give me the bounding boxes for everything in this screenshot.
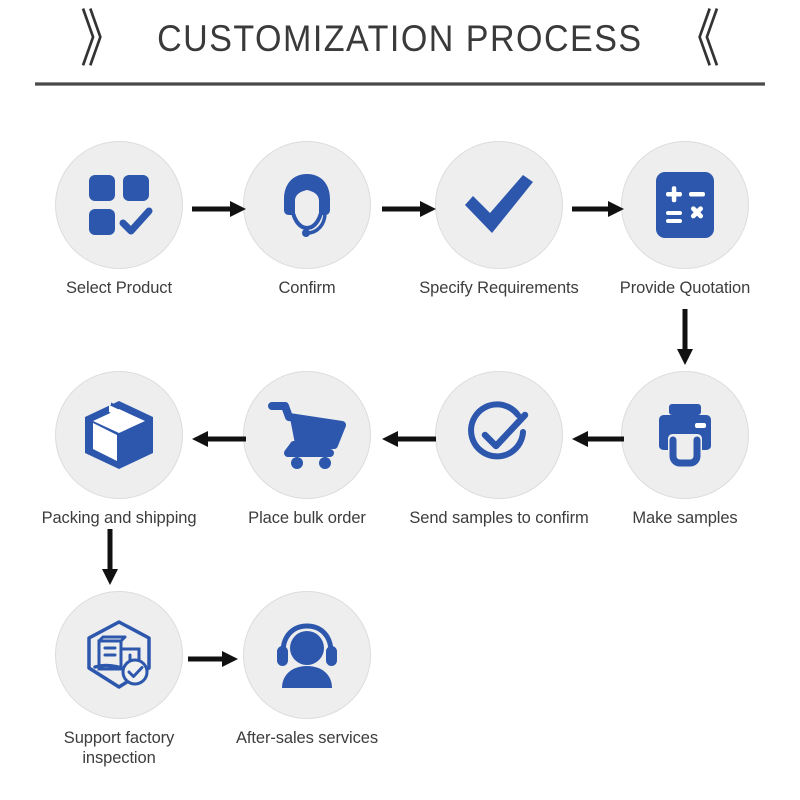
arrow-provide-quotation-to-make-samples [676,309,694,365]
checkmark-icon [461,172,537,238]
step-label: Confirm [217,278,397,298]
support-agent-headset-icon [270,168,344,242]
arrow-down-icon [676,309,694,365]
check-circle-outline-icon [460,396,538,474]
arrow-right-icon [188,650,238,668]
step-label: Specify Requirements [409,278,589,298]
arrow-right-icon [572,200,624,218]
step-icon-circle [55,141,183,269]
arrow-down-icon [101,529,119,585]
process-flow-diagram: Select Product Confirm Specify Requireme… [0,86,800,786]
process-step-make-samples[interactable]: Make samples [595,371,775,528]
process-step-support-factory-inspection[interactable]: Support factory inspection [29,591,209,768]
arrow-right-icon [192,200,246,218]
step-icon-circle [55,591,183,719]
page-title: CUSTOMIZATION PROCESS [157,18,642,60]
step-icon-circle [243,141,371,269]
step-icon-circle [243,371,371,499]
arrow-left-icon [382,430,436,448]
step-label: Send samples to confirm [409,508,589,528]
calculator-icon [654,170,716,240]
package-box-icon [81,397,157,473]
arrow-left-icon [572,430,624,448]
step-icon-circle [55,371,183,499]
process-step-specify-requirements[interactable]: Specify Requirements [409,141,589,298]
step-label: After-sales services [217,728,397,748]
step-icon-circle [243,591,371,719]
arrow-select-product-to-confirm [192,200,246,218]
step-label: Packing and shipping [29,508,209,528]
process-step-provide-quotation[interactable]: Provide Quotation [595,141,775,298]
double-chevron-left-icon: 《 [674,8,720,70]
step-icon-circle [621,371,749,499]
arrow-confirm-to-specify-requirements [382,200,436,218]
headphones-person-icon [269,620,345,690]
step-label: Place bulk order [217,508,397,528]
grid-select-check-icon [84,170,154,240]
process-step-send-samples-to-confirm[interactable]: Send samples to confirm [409,371,589,528]
shopping-cart-icon [268,401,346,469]
printer-icon [649,402,721,468]
arrow-left-icon [192,430,246,448]
arrow-right-icon [382,200,436,218]
arrow-specify-requirements-to-provide-quotation [572,200,624,218]
step-icon-circle [435,371,563,499]
arrow-place-bulk-order-to-packing-and-shipping [192,430,246,448]
factory-inspection-shield-icon [81,619,157,691]
step-label: Provide Quotation [595,278,775,298]
page-header: 》 CUSTOMIZATION PROCESS 《 [0,0,800,86]
process-step-after-sales-services[interactable]: After-sales services [217,591,397,748]
step-icon-circle [435,141,563,269]
step-label: Select Product [29,278,209,298]
arrow-packing-and-shipping-to-support-factory-inspection [101,529,119,585]
process-step-place-bulk-order[interactable]: Place bulk order [217,371,397,528]
process-step-confirm[interactable]: Confirm [217,141,397,298]
step-label: Make samples [595,508,775,528]
step-label: Support factory inspection [29,728,209,768]
process-step-packing-and-shipping[interactable]: Packing and shipping [29,371,209,528]
process-step-select-product[interactable]: Select Product [29,141,209,298]
arrow-make-samples-to-send-samples-to-confirm [572,430,624,448]
title-row: 》 CUSTOMIZATION PROCESS 《 [0,8,800,70]
arrow-send-samples-to-confirm-to-place-bulk-order [382,430,436,448]
step-icon-circle [621,141,749,269]
double-chevron-right-icon: 》 [80,8,126,70]
arrow-support-factory-inspection-to-after-sales-services [188,650,238,668]
